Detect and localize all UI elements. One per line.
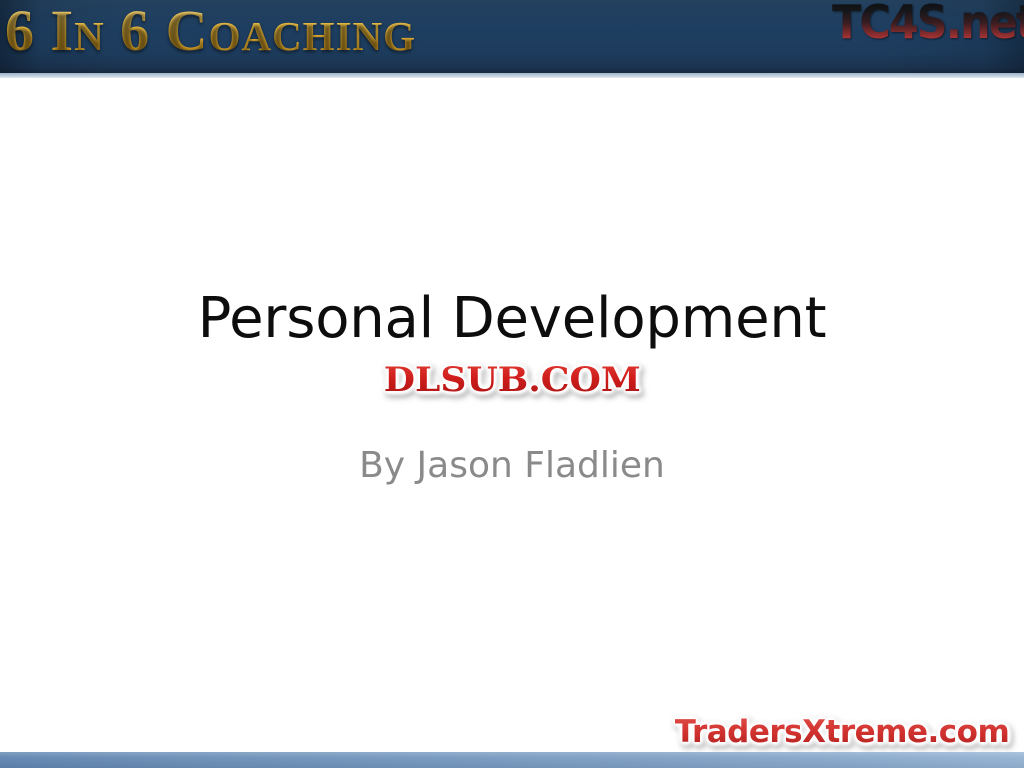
dlsub-watermark-text: DLSUB.COM [383,361,640,399]
brand-logo: 6 In 6 Coaching [5,2,416,60]
tradersxtreme-watermark-text: TradersXtreme.com [675,714,1010,750]
header-banner: 6 In 6 Coaching TC4S.net [0,0,1024,73]
dlsub-watermark: DLSUB.COM [0,361,1024,399]
header-underline-divider [0,73,1024,78]
slide-subtitle: By Jason Fladlien [0,444,1024,488]
footer-bar [0,752,1024,768]
presentation-slide: 6 In 6 Coaching TC4S.net Personal Develo… [0,0,1024,768]
tc4s-site-logo: TC4S.net [832,0,1024,46]
slide-title: Personal Development [0,287,1024,351]
tradersxtreme-watermark: TradersXtreme.com [660,714,1024,750]
